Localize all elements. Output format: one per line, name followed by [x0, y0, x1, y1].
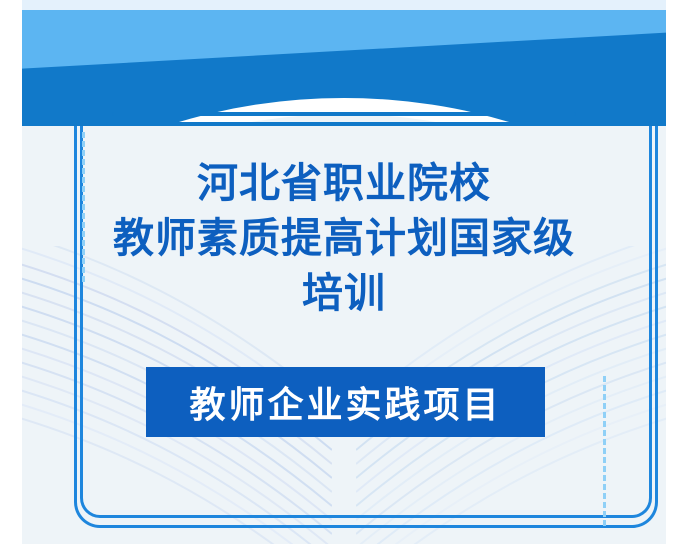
poster-title-line-1: 河北省职业院校	[22, 156, 666, 211]
subtitle-banner: 教师企业实践项目	[146, 367, 545, 437]
poster-title-line-3: 培训	[22, 266, 666, 321]
content-plate: 河北省职业院校 教师素质提高计划国家级 培训 教师企业实践项目	[22, 126, 666, 544]
poster-canvas: 河北省职业院校 教师素质提高计划国家级 培训 教师企业实践项目	[0, 0, 688, 544]
subtitle-banner-text: 教师企业实践项目	[189, 376, 501, 428]
poster-title: 河北省职业院校 教师素质提高计划国家级 培训	[22, 156, 666, 321]
poster-title-line-2: 教师素质提高计划国家级	[22, 211, 666, 266]
accent-rule-upper	[112, 112, 576, 116]
frame-rail-dashed-right	[603, 376, 606, 526]
